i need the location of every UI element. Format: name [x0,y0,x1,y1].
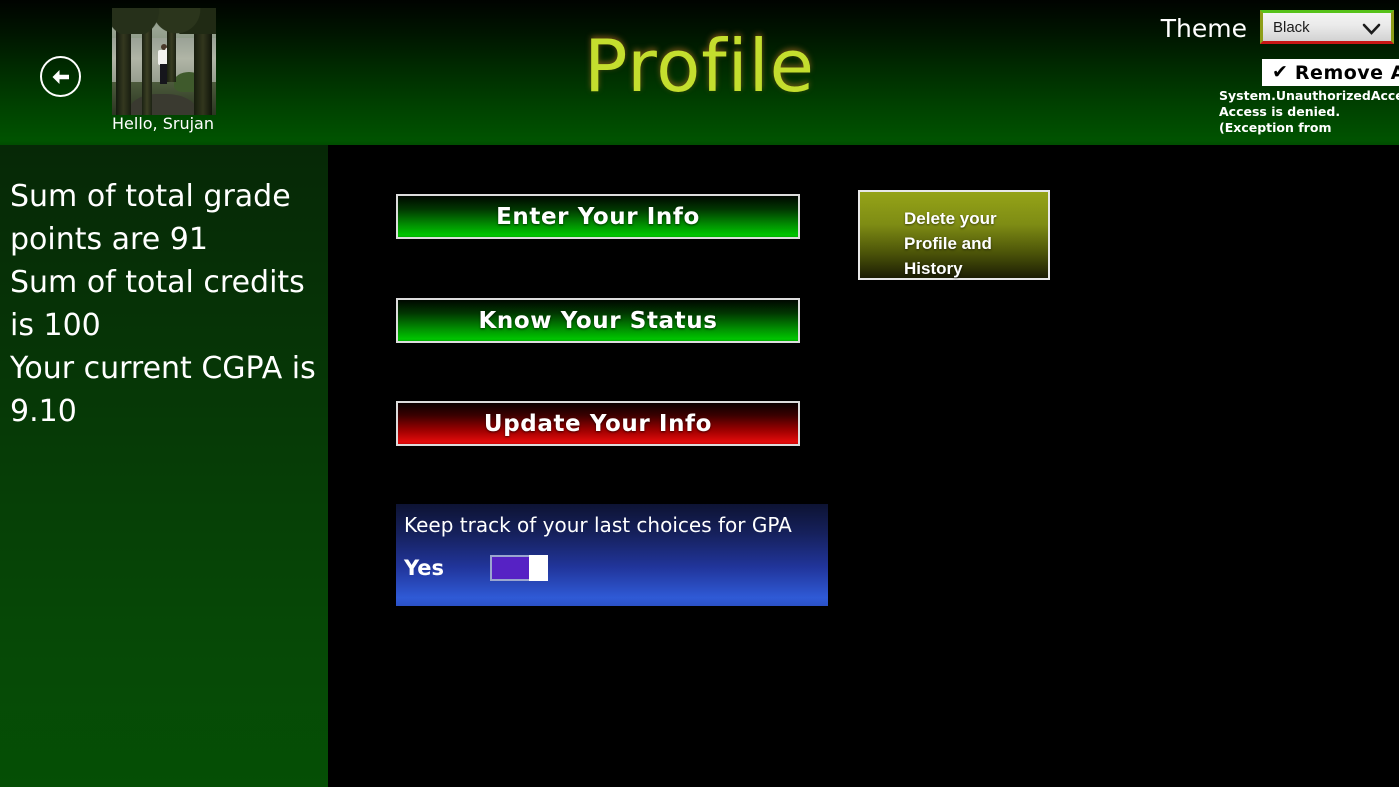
track-gpa-toggle-state: Yes [404,556,490,580]
stat-line-grade-points: Sum of total grade points are 91 [10,175,316,261]
error-message: System.UnauthorizedAccessException: Acce… [1219,88,1399,138]
stats-sidebar: Sum of total grade points are 91 Sum of … [0,145,328,787]
know-your-status-label: Know Your Status [478,308,717,334]
profile-app-window: Hello, Srujan Profile Theme Black ✔ Remo… [0,0,1399,787]
theme-select[interactable]: Black [1260,10,1394,44]
stat-line-credits: Sum of total credits is 100 [10,261,316,347]
stat-line-cgpa: Your current CGPA is 9.10 [10,347,316,433]
chevron-down-icon [1362,21,1381,40]
theme-select-value: Black [1273,19,1310,36]
main-content: Enter Your Info Know Your Status Update … [328,145,1399,787]
track-gpa-toggle-row: Yes [404,555,548,581]
enter-your-info-button[interactable]: Enter Your Info [396,194,800,239]
track-gpa-toggle[interactable] [490,555,548,581]
update-your-info-button[interactable]: Update Your Info [396,401,800,446]
delete-profile-label: Delete your Profile and History [904,206,1048,281]
greeting-text: Hello, Srujan [111,114,215,133]
track-gpa-heading: Keep track of your last choices for GPA [404,513,792,537]
theme-label: Theme [1161,14,1247,43]
toggle-thumb [529,555,548,581]
update-your-info-label: Update Your Info [484,411,712,437]
enter-your-info-label: Enter Your Info [496,204,700,230]
remove-ads-checkbox[interactable]: ✔ Remove Ads [1262,59,1399,86]
track-gpa-panel: Keep track of your last choices for GPA … [396,504,828,606]
delete-profile-button[interactable]: Delete your Profile and History [858,190,1050,280]
check-icon: ✔ [1272,63,1288,82]
app-header: Hello, Srujan Profile Theme Black ✔ Remo… [0,0,1399,145]
remove-ads-label: Remove Ads [1295,62,1399,84]
know-your-status-button[interactable]: Know Your Status [396,298,800,343]
